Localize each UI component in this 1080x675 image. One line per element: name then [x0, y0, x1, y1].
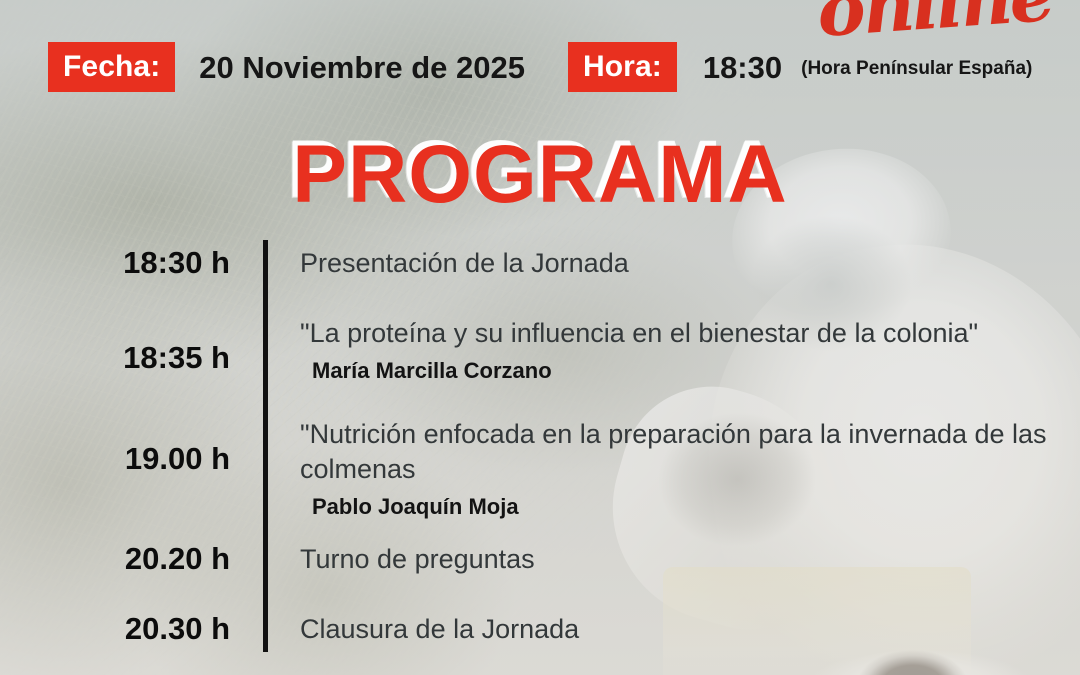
schedule-divider — [263, 240, 268, 652]
schedule-entry: Presentación de la Jornada — [300, 246, 1060, 281]
schedule-time: 20.20 h — [0, 542, 230, 576]
schedule-title: Presentación de la Jornada — [300, 246, 1060, 281]
time-label-badge: Hora: — [568, 42, 677, 92]
schedule-title: Turno de preguntas — [300, 542, 1060, 577]
timezone-note: (Hora Penínsular España) — [801, 56, 1032, 78]
time-value: 18:30 — [703, 52, 782, 83]
schedule-title: "Nutrición enfocada en la preparación pa… — [300, 417, 1060, 487]
schedule-speaker: María Marcilla Corzano — [312, 358, 1060, 384]
schedule-title: "La proteína y su influencia en el biene… — [300, 316, 1060, 351]
schedule-entry: "Nutrición enfocada en la preparación pa… — [300, 417, 1060, 521]
schedule-entry: "La proteína y su influencia en el biene… — [300, 316, 1060, 384]
date-value: 20 Noviembre de 2025 — [199, 52, 525, 83]
schedule-title: Clausura de la Jornada — [300, 612, 1060, 647]
schedule-time: 20.30 h — [0, 612, 230, 646]
date-label-badge: Fecha: — [48, 42, 175, 92]
schedule-speaker: Pablo Joaquín Moja — [312, 494, 1060, 520]
schedule-entry: Clausura de la Jornada — [300, 612, 1060, 647]
poster: online Fecha: 20 Noviembre de 2025 Hora:… — [0, 0, 1080, 675]
schedule-entry: Turno de preguntas — [300, 542, 1060, 577]
schedule-time: 18:30 h — [0, 246, 230, 280]
schedule-time: 19.00 h — [0, 442, 230, 476]
page-title: PROGRAMA — [0, 134, 1080, 216]
event-header: Fecha: 20 Noviembre de 2025 Hora: 18:30 … — [0, 36, 1080, 98]
schedule-time: 18:35 h — [0, 341, 230, 375]
